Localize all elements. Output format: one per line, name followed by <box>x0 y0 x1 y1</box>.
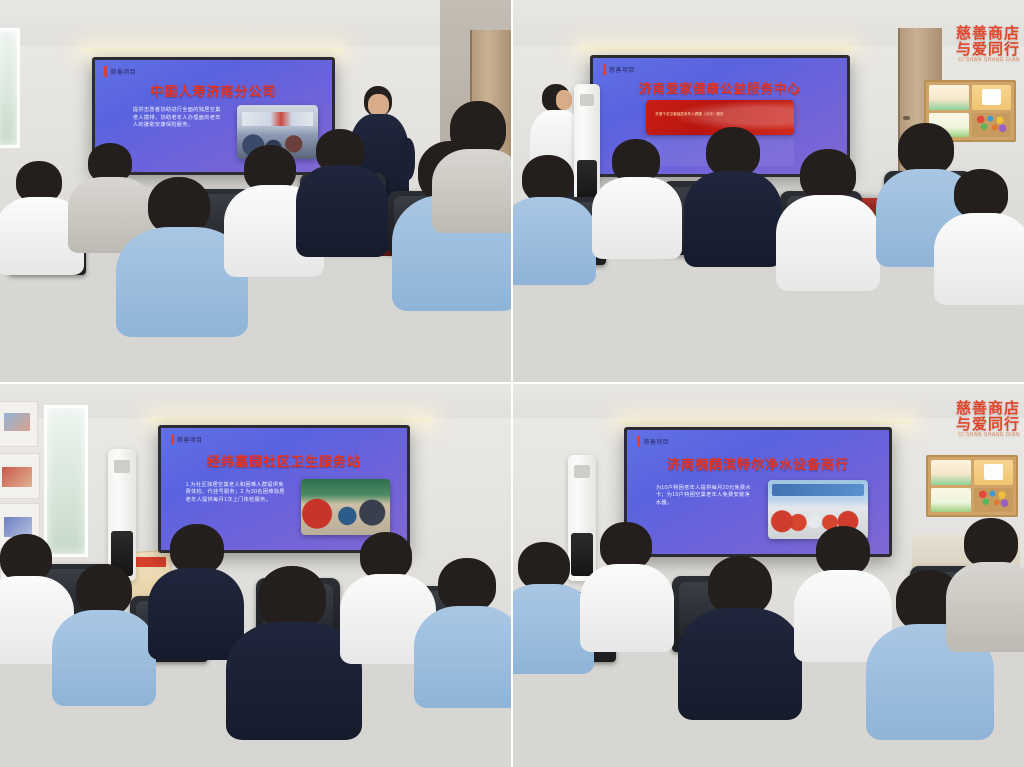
audience-torso <box>296 165 388 257</box>
audience-member <box>596 139 680 251</box>
audience-torso <box>432 149 512 233</box>
wall-sign-line1: 慈善商店 <box>956 400 1020 417</box>
presenter-face <box>368 94 389 116</box>
slide-logo: 慈善项目 <box>104 66 136 77</box>
board-panel <box>972 85 1012 110</box>
photo-collage: 慈善项目 中国人寿济南分公司 提供志愿者协助进行全面的独居空巢老人摸排，协助老年… <box>0 0 1024 767</box>
photo-panel-bottom-right: 慈善项目 济南槐荫滨特尔净水设备商行 为10户特困老年人提供每月20元免费水卡；… <box>512 383 1024 767</box>
ac-vent <box>574 465 590 478</box>
collage-seam-horizontal <box>0 382 1024 384</box>
slide-title: 济南槐荫滨特尔净水设备商行 <box>627 454 889 473</box>
shelf-photo <box>4 413 30 431</box>
logo-bar-icon <box>637 436 640 447</box>
ceiling-light-cove <box>82 48 344 53</box>
slide-photo-image <box>301 479 390 535</box>
audience-area <box>512 161 1024 383</box>
photo-panel-top-right: 慈善项目 济南爱家健康公益服务中心 关爱千名空巢独居老年人健康（义诊）服务 <box>512 0 1024 383</box>
audience-head <box>518 542 570 590</box>
slide-logo: 慈善项目 <box>603 64 635 75</box>
room-ceiling <box>0 0 512 46</box>
room-ceiling <box>512 0 1024 46</box>
audience-head <box>898 123 954 175</box>
photo-panel-bottom-left: 慈善项目 经纬嘉园社区卫生服务站 1.为社区独居空巢老人和困难人群提供免费体检、… <box>0 383 512 767</box>
slide-logo: 慈善项目 <box>637 436 669 447</box>
bulletin-board <box>926 455 1018 517</box>
audience-torso <box>414 606 512 708</box>
slide-title: 济南爱家健康公益服务中心 <box>593 78 847 97</box>
slide-body-text: 为10户特困老年人提供每月20元免费水卡；为10户特困空巢老年人免费安装净水器。 <box>656 485 756 508</box>
wall-sign: 慈善商店 与爱同行 CI SHAN SHANG DIAN <box>956 401 1020 438</box>
audience-head <box>522 155 574 203</box>
audience-head <box>708 556 772 616</box>
logo-bar-icon <box>603 64 606 75</box>
slide-logo-text: 慈善项目 <box>110 67 136 76</box>
wall-sign-line2: 与爱同行 <box>956 416 1020 433</box>
audience-head <box>438 558 496 612</box>
audience-head <box>258 566 326 630</box>
slide-logo-text: 慈善项目 <box>609 65 635 74</box>
audience-torso <box>946 562 1024 652</box>
board-panel <box>972 113 1012 138</box>
audience-area <box>0 161 512 383</box>
door-knob[interactable] <box>903 116 910 120</box>
audience-member <box>950 518 1024 632</box>
audience-area <box>512 552 1024 767</box>
board-panel <box>931 460 971 485</box>
audience-torso <box>678 608 802 720</box>
slide-body-text: 1.为社区独居空巢老人和困难人群提供免费体检、代挂号服务；2.为30名困难独居老… <box>186 482 289 505</box>
audience-head <box>706 127 760 177</box>
audience-member <box>584 522 672 638</box>
wall-sign-line1: 慈善商店 <box>956 25 1020 42</box>
audience-torso <box>684 171 782 267</box>
board-panel <box>931 488 971 513</box>
board-panel <box>974 460 1014 485</box>
audience-member <box>780 149 878 279</box>
audience-torso <box>592 177 682 259</box>
bystander-face <box>556 90 572 110</box>
slide-logo-text: 慈善项目 <box>177 435 203 444</box>
audience-member <box>938 169 1024 289</box>
audience-head <box>954 169 1008 219</box>
ceiling-light-cove <box>620 419 912 424</box>
ceiling-light-cove <box>150 417 432 422</box>
audience-member <box>418 558 512 692</box>
slide-logo-text: 慈善项目 <box>643 437 669 446</box>
audience-head <box>360 532 412 580</box>
audience-torso <box>512 197 596 285</box>
slide-title: 中国人寿济南分公司 <box>95 81 332 100</box>
audience-head <box>170 524 224 574</box>
audience-member <box>688 127 780 253</box>
room-ceiling <box>512 383 1024 418</box>
photo-panel-top-left: 慈善项目 中国人寿济南分公司 提供志愿者协助进行全面的独居空巢老人摸排，协助老年… <box>0 0 512 383</box>
audience-head <box>800 149 856 201</box>
audience-member <box>58 564 154 692</box>
slide-photo <box>301 479 390 535</box>
slide-logo: 慈善项目 <box>171 434 203 445</box>
audience-member <box>300 129 386 247</box>
audience-head <box>816 526 870 576</box>
wall-sign: 慈善商店 与爱同行 CI SHAN SHANG DIAN <box>956 26 1020 63</box>
wall-sign-english: CI SHAN SHANG DIAN <box>956 433 1020 438</box>
slide-banner-text: 关爱千名空巢独居老年人健康（义诊）服务 <box>655 112 758 117</box>
ac-vent <box>580 94 595 106</box>
board-panel <box>974 488 1014 513</box>
audience-member <box>438 101 512 211</box>
audience-head <box>76 564 132 616</box>
slide-title: 经纬嘉园社区卫生服务站 <box>161 451 407 470</box>
audience-head <box>600 522 652 570</box>
audience-area <box>0 552 512 767</box>
logo-bar-icon <box>104 66 107 77</box>
audience-member <box>152 524 244 644</box>
wall-sign-line2: 与爱同行 <box>956 41 1020 58</box>
board-panel <box>929 85 969 110</box>
audience-head <box>964 518 1018 568</box>
wall-sign-english: CI SHAN SHANG DIAN <box>956 58 1020 63</box>
audience-torso <box>776 195 880 291</box>
audience-head <box>0 534 52 582</box>
audience-member <box>684 556 800 698</box>
audience-torso <box>934 213 1024 305</box>
window <box>0 28 20 148</box>
audience-member <box>512 155 596 275</box>
audience-torso <box>148 568 244 660</box>
ac-vent <box>114 460 130 473</box>
ceiling-light-cove <box>580 46 852 51</box>
shelf-photo <box>2 467 32 487</box>
audience-torso <box>580 564 674 652</box>
audience-torso <box>52 610 156 706</box>
logo-bar-icon <box>171 434 174 445</box>
slide-body-text: 提供志愿者协助进行全面的独居空巢老人摸排，协助老年人办理面向老年人的援助安康保险… <box>133 107 223 130</box>
